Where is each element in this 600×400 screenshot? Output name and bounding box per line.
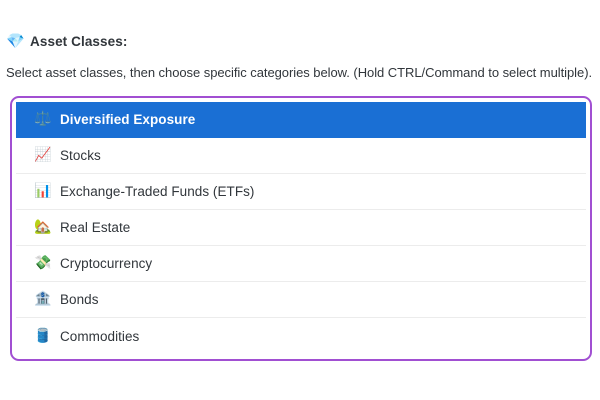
asset-classes-label: Asset Classes: (30, 34, 127, 49)
asset-class-option-label: Diversified Exposure (60, 112, 195, 127)
balance-scale-icon: ⚖️ (34, 111, 51, 128)
asset-class-option[interactable]: ⚖️Diversified Exposure (16, 102, 586, 138)
asset-class-option-label: Cryptocurrency (60, 256, 152, 271)
bar-chart-icon: 📊 (34, 183, 51, 200)
asset-class-option-label: Exchange-Traded Funds (ETFs) (60, 184, 254, 199)
money-with-wings-icon: 💸 (34, 255, 51, 272)
asset-class-option[interactable]: 🏦Bonds (16, 282, 586, 318)
asset-class-option[interactable]: 📊Exchange-Traded Funds (ETFs) (16, 174, 586, 210)
oil-drum-icon: 🛢️ (34, 328, 51, 345)
asset-classes-option-list[interactable]: ⚖️Diversified Exposure📈Stocks📊Exchange-T… (16, 102, 586, 355)
bank-icon: 🏦 (34, 291, 51, 308)
asset-class-option-label: Stocks (60, 148, 101, 163)
asset-classes-label-row: 💎 Asset Classes: (6, 31, 127, 51)
gem-stone-icon: 💎 (6, 33, 23, 50)
asset-class-option[interactable]: 📈Stocks (16, 138, 586, 174)
chart-increasing-icon: 📈 (34, 147, 51, 164)
asset-class-option-label: Bonds (60, 292, 99, 307)
asset-classes-listbox[interactable]: ⚖️Diversified Exposure📈Stocks📊Exchange-T… (10, 96, 592, 361)
asset-class-option-label: Commodities (60, 329, 139, 344)
house-with-garden-icon: 🏡 (34, 219, 51, 236)
asset-classes-helper-text: Select asset classes, then choose specif… (6, 65, 592, 80)
asset-class-option[interactable]: 🛢️Commodities (16, 318, 586, 354)
asset-class-option-label: Real Estate (60, 220, 130, 235)
asset-class-option[interactable]: 💸Cryptocurrency (16, 246, 586, 282)
asset-class-option[interactable]: 🏡Real Estate (16, 210, 586, 246)
asset-classes-form: 💎 Asset Classes: Select asset classes, t… (0, 0, 600, 400)
